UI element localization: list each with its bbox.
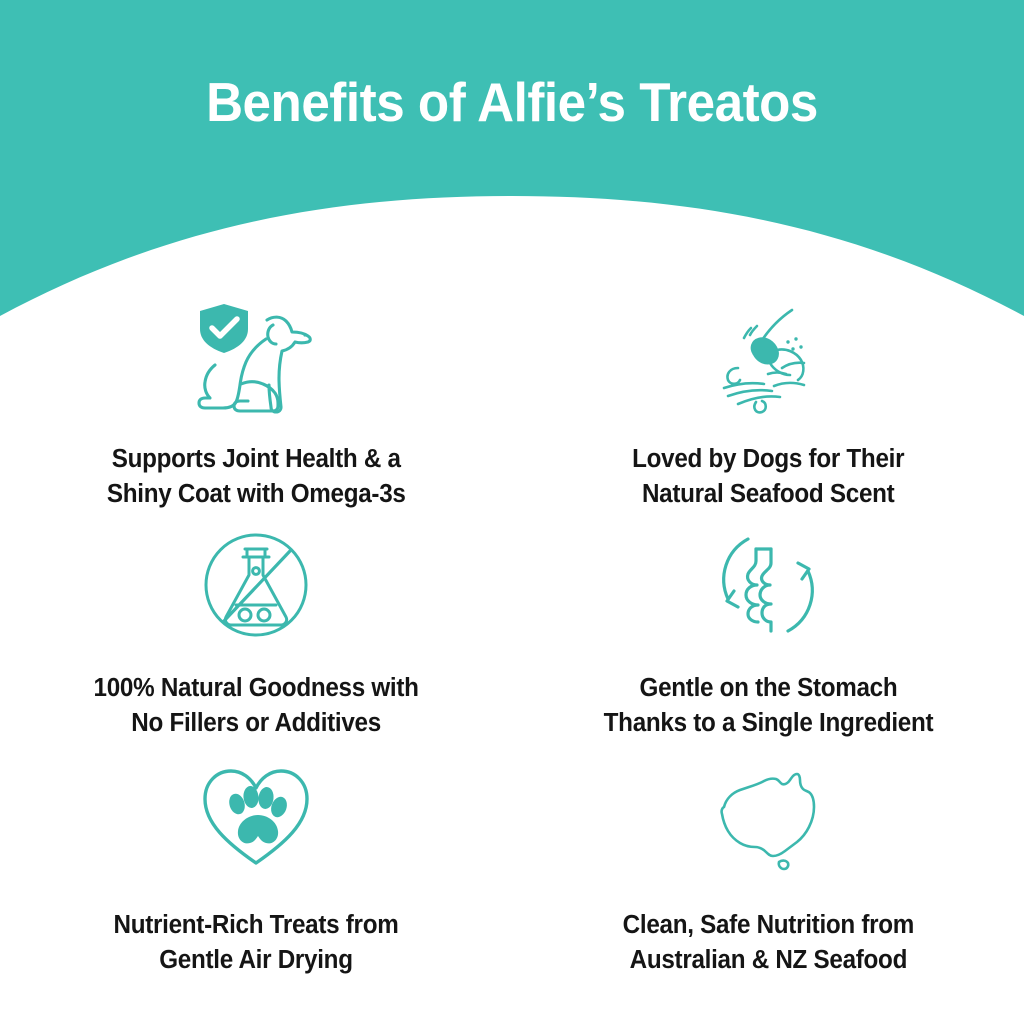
benefit-label-line2: Thanks to a Single Ingredient [603,706,933,741]
benefit-label: Supports Joint Health & a Shiny Coat wit… [107,442,406,512]
benefit-label: Loved by Dogs for Their Natural Seafood … [632,442,904,512]
header-band: Benefits of Alfie’s Treatos [0,0,1024,330]
benefit-label-line2: Australian & NZ Seafood [622,943,913,978]
benefit-item-aus-nz-seafood: Clean, Safe Nutrition from Australian & … [512,752,1024,987]
benefit-label: 100% Natural Goodness with No Fillers or… [93,671,418,741]
heart-paw-print-icon [197,754,315,882]
benefit-item-gentle-stomach: Gentle on the Stomach Thanks to a Single… [512,517,1024,752]
benefit-item-natural-no-fillers: 100% Natural Goodness with No Fillers or… [0,517,512,752]
australia-map-icon [706,754,830,882]
benefit-item-nutrient-rich: Nutrient-Rich Treats from Gentle Air Dry… [0,752,512,987]
benefit-item-joint-health: Supports Joint Health & a Shiny Coat wit… [0,282,512,517]
benefit-label-line1: Nutrient-Rich Treats from [114,908,399,943]
benefit-label-line2: Shiny Coat with Omega-3s [107,477,406,512]
page-title: Benefits of Alfie’s Treatos [36,72,988,133]
dog-shield-check-icon [181,292,331,424]
benefit-label-line1: Clean, Safe Nutrition from [622,908,913,943]
gut-digestion-refresh-icon [708,519,828,651]
benefits-infographic: Benefits of Alfie’s Treatos [0,0,1024,1024]
benefit-label-line2: No Fillers or Additives [93,706,418,741]
dog-sniffing-scent-icon [708,292,828,424]
benefit-label-line1: 100% Natural Goodness with [93,671,418,706]
benefit-label-line2: Gentle Air Drying [114,943,399,978]
benefit-item-seafood-scent: Loved by Dogs for Their Natural Seafood … [512,282,1024,517]
header-curve-shape [0,0,1024,330]
benefit-label: Clean, Safe Nutrition from Australian & … [622,908,913,978]
benefit-label: Nutrient-Rich Treats from Gentle Air Dry… [114,908,399,978]
no-chemicals-flask-icon [198,519,314,651]
benefit-label: Gentle on the Stomach Thanks to a Single… [603,671,933,741]
benefit-label-line1: Supports Joint Health & a [107,442,406,477]
benefit-label-line1: Gentle on the Stomach [603,671,933,706]
benefit-label-line1: Loved by Dogs for Their [632,442,904,477]
benefit-label-line2: Natural Seafood Scent [632,477,904,512]
benefits-grid: Supports Joint Health & a Shiny Coat wit… [0,282,1024,987]
